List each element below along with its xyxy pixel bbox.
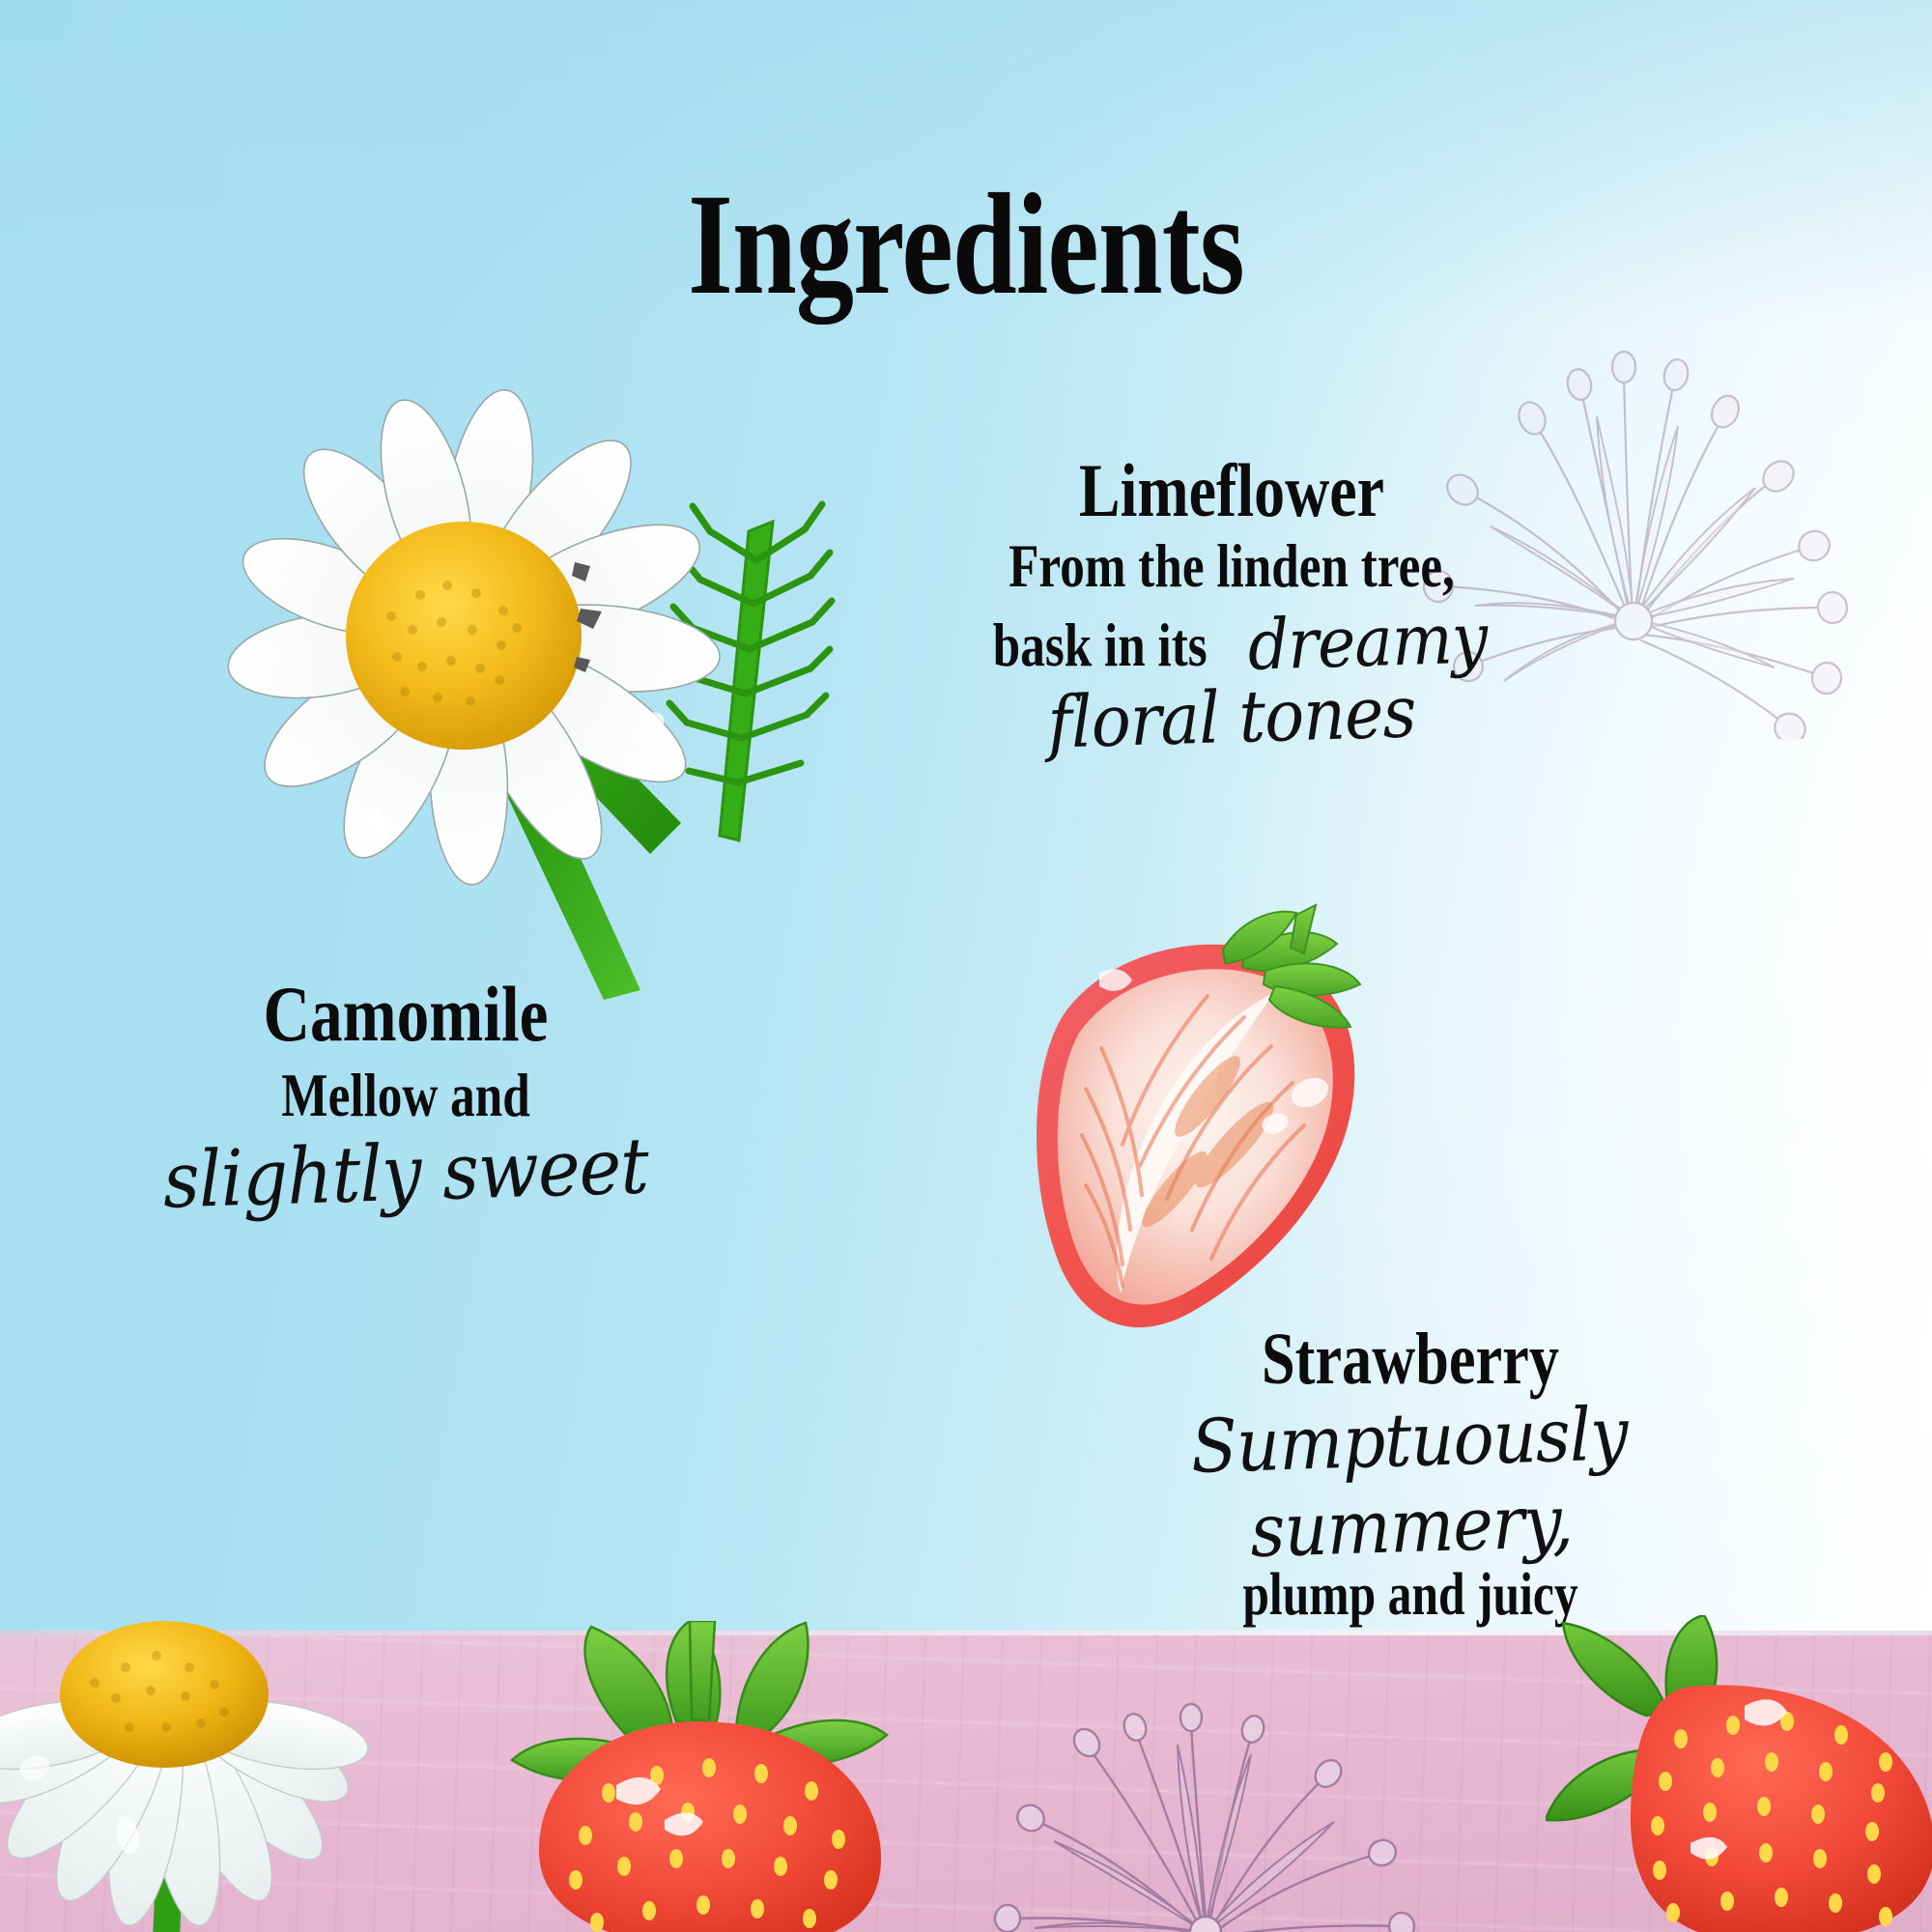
- ingredient-name-limeflower: Limeflower: [935, 454, 1529, 527]
- strawberry-desc-script: Sumptuously summery,: [1035, 1386, 1785, 1580]
- ingredient-block-camomile: Camomile Mellow and slightly sweet: [58, 976, 753, 1218]
- ingredients-poster: Ingredients Limeflower From the linden t…: [0, 0, 1932, 1932]
- camomile-desc-plain: Mellow and: [128, 1065, 684, 1126]
- limeflower-desc-line3-script: floral tones: [1047, 671, 1417, 766]
- camomile-desc-script-wrap: slightly sweet: [58, 1126, 753, 1218]
- ingredient-name-strawberry: Strawberry: [1078, 1323, 1744, 1395]
- ingredient-name-camomile: Camomile: [121, 976, 691, 1053]
- band-strawberry-image-2: [1546, 1615, 1932, 1932]
- limeflower-desc-line1: From the linden tree,: [942, 535, 1521, 597]
- chamomile-flower-image: [198, 386, 913, 1014]
- band-strawberry-image-1: [483, 1621, 985, 1932]
- ingredient-block-limeflower: Limeflower From the linden tree, bask in…: [869, 454, 1594, 759]
- page-title: Ingredients: [193, 172, 1739, 317]
- strawberry-half-image: [985, 903, 1391, 1348]
- camomile-desc-script: slightly sweet: [162, 1122, 649, 1226]
- band-chamomile-image: [0, 1613, 473, 1932]
- limeflower-desc-line2: bask in its dreamy: [869, 601, 1594, 682]
- limeflower-desc-line2-plain: bask in its: [993, 610, 1207, 681]
- ingredient-block-strawberry: Strawberry Sumptuously summery, plump an…: [1005, 1323, 1816, 1625]
- strawberry-desc-script-wrap: Sumptuously summery,: [1005, 1395, 1816, 1569]
- limeflower-desc-line3: floral tones: [869, 676, 1594, 759]
